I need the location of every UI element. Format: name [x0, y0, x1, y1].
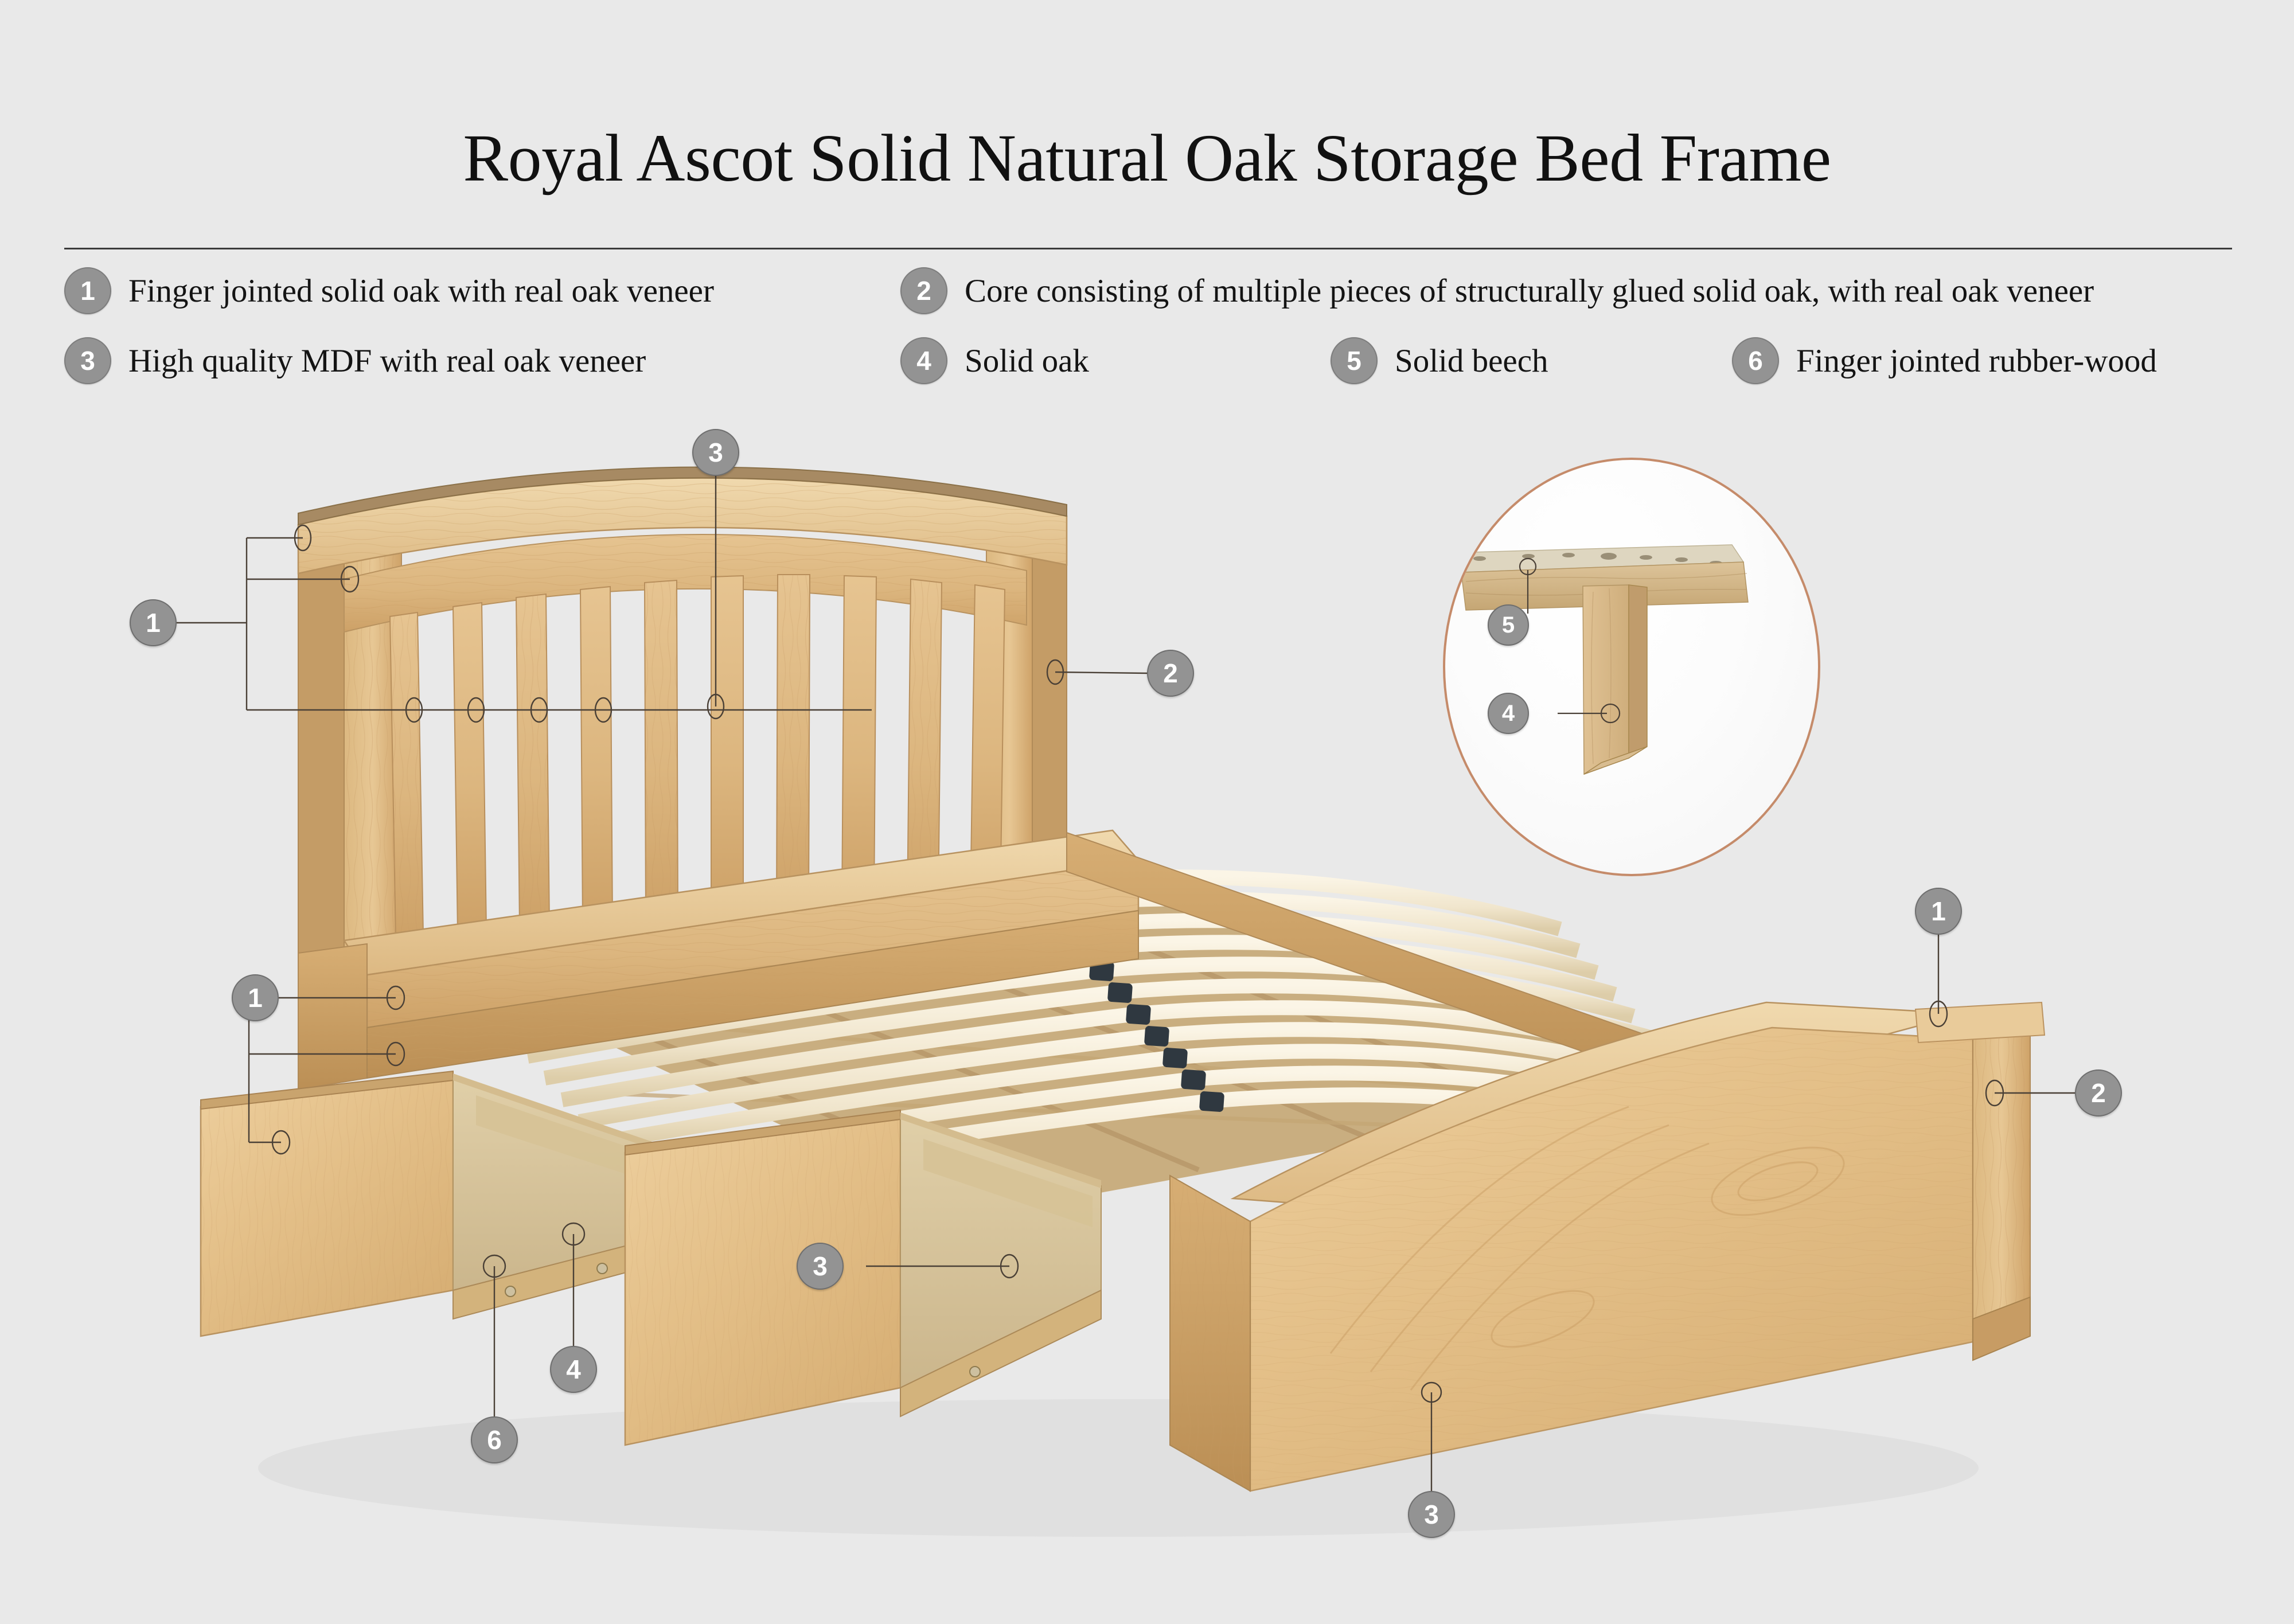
callout-drawer-runner-solid-oak[interactable]: 4 [550, 1346, 597, 1393]
callout-footboard-top-rail[interactable]: 1 [1915, 888, 1962, 935]
callout-centre-rail-solid-beech[interactable]: 5 [1488, 604, 1529, 646]
callout-centre-leg-solid-oak[interactable]: 4 [1488, 693, 1529, 734]
callout-side-rail-left[interactable]: 1 [232, 974, 279, 1021]
callout-headboard-top-rail[interactable]: 3 [692, 429, 739, 476]
callout-headboard-post-top[interactable]: 1 [130, 599, 177, 646]
callout-drawer-front-rubberwood[interactable]: 6 [471, 1416, 518, 1463]
centre-support-detail-inset [1443, 458, 1820, 876]
callout-footboard-side-rail[interactable]: 2 [2075, 1069, 2122, 1116]
bed-frame-illustration [0, 0, 2294, 1624]
callout-headboard-right-rail[interactable]: 2 [1147, 650, 1194, 697]
callout-drawer-side-mdf[interactable]: 3 [797, 1243, 844, 1290]
inset-illustration [1445, 460, 1820, 876]
callout-footboard-panel-mdf[interactable]: 3 [1408, 1491, 1455, 1538]
